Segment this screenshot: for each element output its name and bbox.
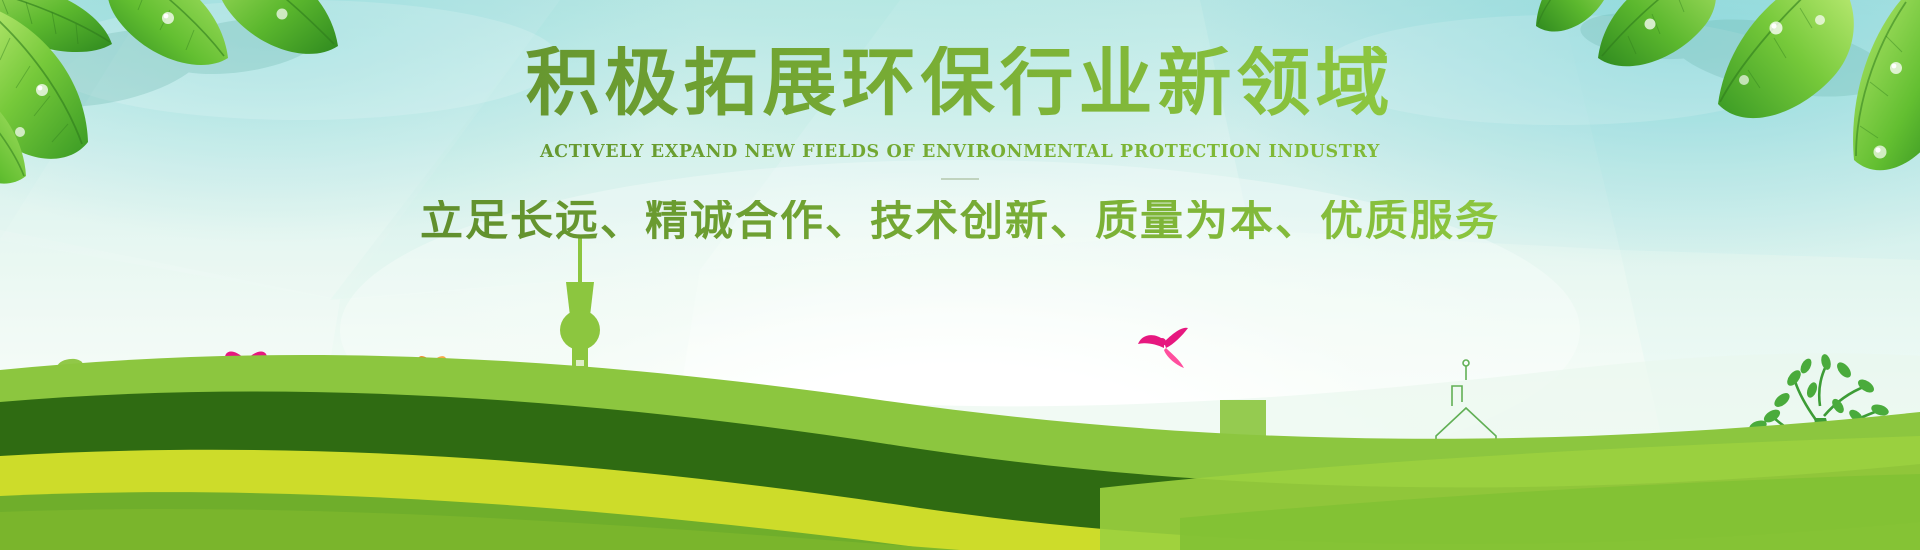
copy-block: 积极拓展环保行业新领域 ACTIVELY EXPAND NEW FIELDS O… [0, 46, 1920, 243]
page-title: 积极拓展环保行业新领域 [0, 46, 1920, 120]
divider-rule [941, 178, 979, 180]
tagline: 立足长远、精诚合作、技术创新、质量为本、优质服务 [0, 200, 1920, 243]
eco-banner: 积极拓展环保行业新领域 ACTIVELY EXPAND NEW FIELDS O… [0, 0, 1920, 550]
subtitle-english: ACTIVELY EXPAND NEW FIELDS OF ENVIRONMEN… [0, 142, 1920, 162]
wave-bands [0, 250, 1920, 550]
